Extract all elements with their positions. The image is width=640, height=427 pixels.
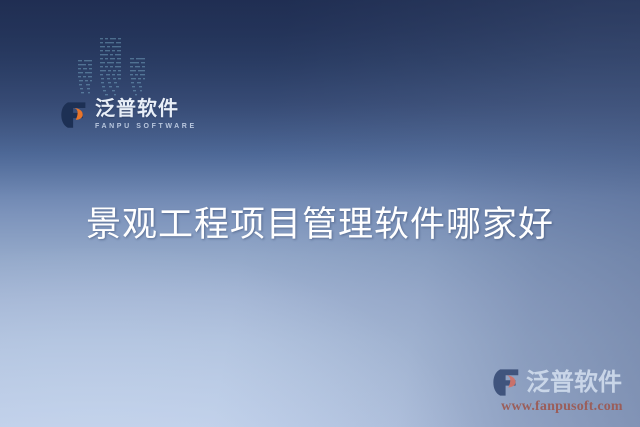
watermark-logo-row: 泛普软件 xyxy=(492,368,632,397)
brand-text-block: 泛普软件 FANPU SOFTWARE xyxy=(95,99,197,130)
brand-name-cn: 泛普软件 xyxy=(95,99,197,119)
watermark: 泛普软件 www.fanpusoft.com xyxy=(492,368,632,415)
fanpu-hexagon-swoosh-logo-icon xyxy=(492,368,521,397)
pixel-cityscape-icon xyxy=(72,28,154,104)
watermark-name-cn: 泛普软件 xyxy=(526,371,622,395)
fanpu-hexagon-swoosh-logo-icon xyxy=(60,101,88,129)
brand-logo: 泛普软件 FANPU SOFTWARE xyxy=(60,99,197,130)
banner-canvas: 泛普软件 FANPU SOFTWARE 景观工程项目管理软件哪家好 泛普软件 w… xyxy=(0,0,640,427)
page-title: 景观工程项目管理软件哪家好 xyxy=(0,196,640,247)
brand-name-en: FANPU SOFTWARE xyxy=(95,123,197,130)
watermark-url: www.fanpusoft.com xyxy=(492,399,632,415)
